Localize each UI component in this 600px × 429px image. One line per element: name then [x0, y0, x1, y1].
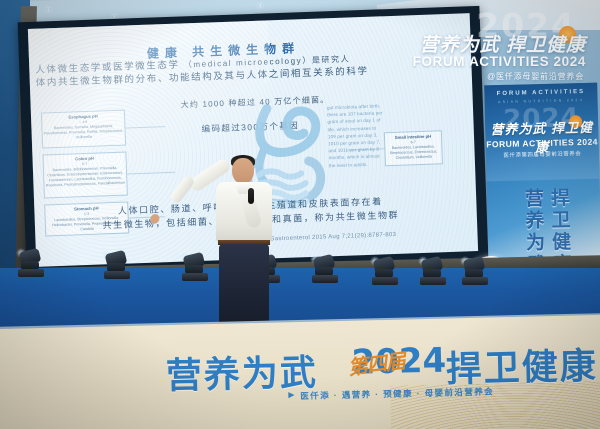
main-stage-banner: 营养为武 2024 第四届 捍卫健康 ▶ 医仟添 · 遇营养 · 预健康 · 母… [0, 314, 600, 429]
banner-right-text: 捍卫健康 [445, 337, 598, 393]
event-logo-overlay: 2024 营养为武 捍卫健康 FORUM ACTIVITIES 2024 @医仟… [418, 4, 594, 88]
speaker-presenter [196, 150, 306, 330]
ceiling-spotlight-icon [112, 15, 117, 18]
event-logo-handle: @医仟添母婴前沿营养会 [487, 71, 584, 82]
banner-arrow-icon: ▶ [288, 390, 294, 399]
speaker-trousers [219, 244, 269, 330]
ceiling-spotlight-icon [258, 4, 263, 7]
diagram-box-ph: ~ 4-6 [79, 120, 87, 124]
speaker-head [232, 158, 254, 184]
diagram-box-organisms: Bacteroides, Gemella, Megasphaera, Pseud… [44, 124, 123, 139]
banner-left-text: 营养为武 [165, 344, 318, 400]
diagram-box-organisms: Bacteroides, Lactobacillus, Streptococcu… [390, 145, 438, 160]
moving-head-stage-light [462, 258, 488, 288]
diagram-box-ph: 6-7 [411, 140, 416, 144]
conference-photo-scene: 健康 共生微生物群 人体微生态学或医学微生态学 （medical microec… [0, 0, 600, 429]
diagram-box-title: Small intestine pH [386, 133, 440, 140]
diagram-connector [125, 126, 165, 128]
ceiling-spotlight-icon [46, 8, 51, 11]
diagram-box-duodenum: Small intestine pH 6-7 Bacteroides, Lact… [384, 130, 443, 166]
diagram-box-ph: 5-7 [82, 162, 87, 166]
moving-head-stage-light [420, 258, 446, 288]
diagram-box-esophagus: Esophagus pH ~ 4-6 Bacteroides, Gemella,… [41, 110, 126, 149]
moving-head-stage-light [104, 252, 130, 282]
diagram-box-organisms: Bacteroides, Bifidobacterium, Prevotella… [46, 166, 125, 188]
moving-head-stage-light [312, 256, 338, 286]
event-logo-forum-activities: FORUM ACTIVITIES 2024 [413, 54, 586, 69]
moving-head-stage-light [18, 250, 44, 280]
handheld-microphone-icon [248, 188, 254, 204]
english-paragraph: gut microbiota after birth, there are 10… [327, 102, 385, 169]
diagram-connector [127, 172, 175, 175]
event-logo-chinese-title: 营养为武 捍卫健康 [420, 30, 586, 57]
moving-head-stage-light [372, 258, 398, 288]
diagram-box-colon: Colon pH 5-7 Bacteroides, Bifidobacteriu… [42, 152, 128, 199]
